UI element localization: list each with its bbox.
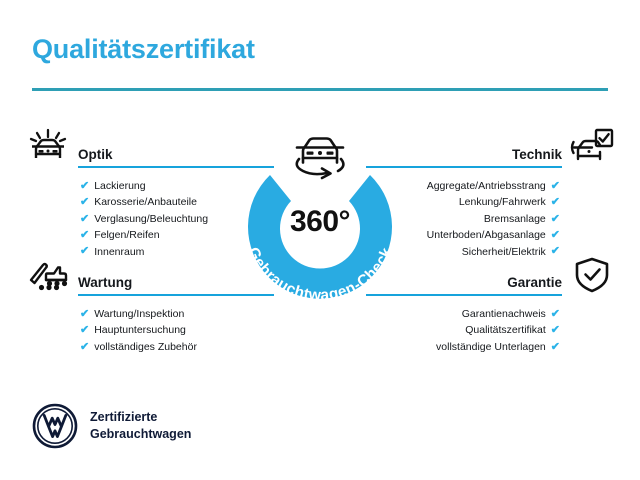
check-icon: ✔ [80, 342, 89, 353]
check-icon: ✔ [80, 325, 89, 336]
list-item-label: Karosserie/Anbauteile [94, 194, 197, 210]
check-icon: ✔ [551, 214, 560, 225]
oil-dipstick-car-icon [26, 256, 70, 294]
list-item: ✔Hauptuntersuchung [24, 322, 274, 338]
footer-logo-line1: Zertifizierte [90, 409, 191, 426]
list-item-label: vollständiges Zubehör [94, 339, 197, 355]
list-item: vollständige Unterlagen✔ [366, 339, 616, 355]
section-title-wartung: Wartung [78, 275, 132, 290]
car-shine-icon [26, 128, 70, 166]
shield-check-icon [570, 256, 614, 294]
volkswagen-logo-icon [32, 403, 78, 449]
badge-center-label: 360° [229, 205, 411, 239]
list-item-label: Verglasung/Beleuchtung [94, 211, 208, 227]
certificate-page: Qualitätszertifikat [0, 0, 640, 480]
check-icon: ✔ [80, 230, 89, 241]
list-item: ✔vollständiges Zubehör [24, 339, 274, 355]
check-icon: ✔ [551, 181, 560, 192]
list-item-label: vollständige Unterlagen [436, 339, 546, 355]
list-item: Qualitätszertifikat✔ [366, 322, 616, 338]
page-title: Qualitätszertifikat [32, 34, 255, 65]
list-item-label: Qualitätszertifikat [465, 322, 546, 338]
list-item-label: Aggregate/Antriebsstrang [427, 178, 546, 194]
car-rotation-icon [283, 126, 357, 182]
car-checkbox-icon [570, 128, 614, 166]
check-icon: ✔ [80, 181, 89, 192]
list-item-label: Unterboden/Abgasanlage [427, 227, 546, 243]
section-title-optik: Optik [78, 147, 113, 162]
list-item: Garantienachweis✔ [366, 306, 616, 322]
list-item: ✔Wartung/Inspektion [24, 306, 274, 322]
title-divider [32, 88, 608, 91]
check-icon: ✔ [551, 342, 560, 353]
check-icon: ✔ [80, 214, 89, 225]
footer-logo-text: Zertifizierte Gebrauchtwagen [90, 409, 191, 443]
list-item-label: Lackierung [94, 178, 145, 194]
list-item-label: Lenkung/Fahrwerk [459, 194, 546, 210]
check-icon: ✔ [80, 197, 89, 208]
footer-logo-line2: Gebrauchtwagen [90, 426, 191, 443]
list-item-label: Garantienachweis [462, 306, 546, 322]
check-icon: ✔ [80, 309, 89, 320]
list-item-label: Felgen/Reifen [94, 227, 159, 243]
list-item-label: Hauptuntersuchung [94, 322, 186, 338]
check-icon: ✔ [551, 309, 560, 320]
check-icon: ✔ [551, 325, 560, 336]
list-item-label: Bremsanlage [484, 211, 546, 227]
check-icon: ✔ [551, 230, 560, 241]
section-title-garantie: Garantie [507, 275, 562, 290]
check-icon: ✔ [551, 197, 560, 208]
list-item-label: Wartung/Inspektion [94, 306, 184, 322]
section-title-technik: Technik [512, 147, 562, 162]
footer-logo-block: Zertifizierte Gebrauchtwagen [32, 403, 191, 449]
